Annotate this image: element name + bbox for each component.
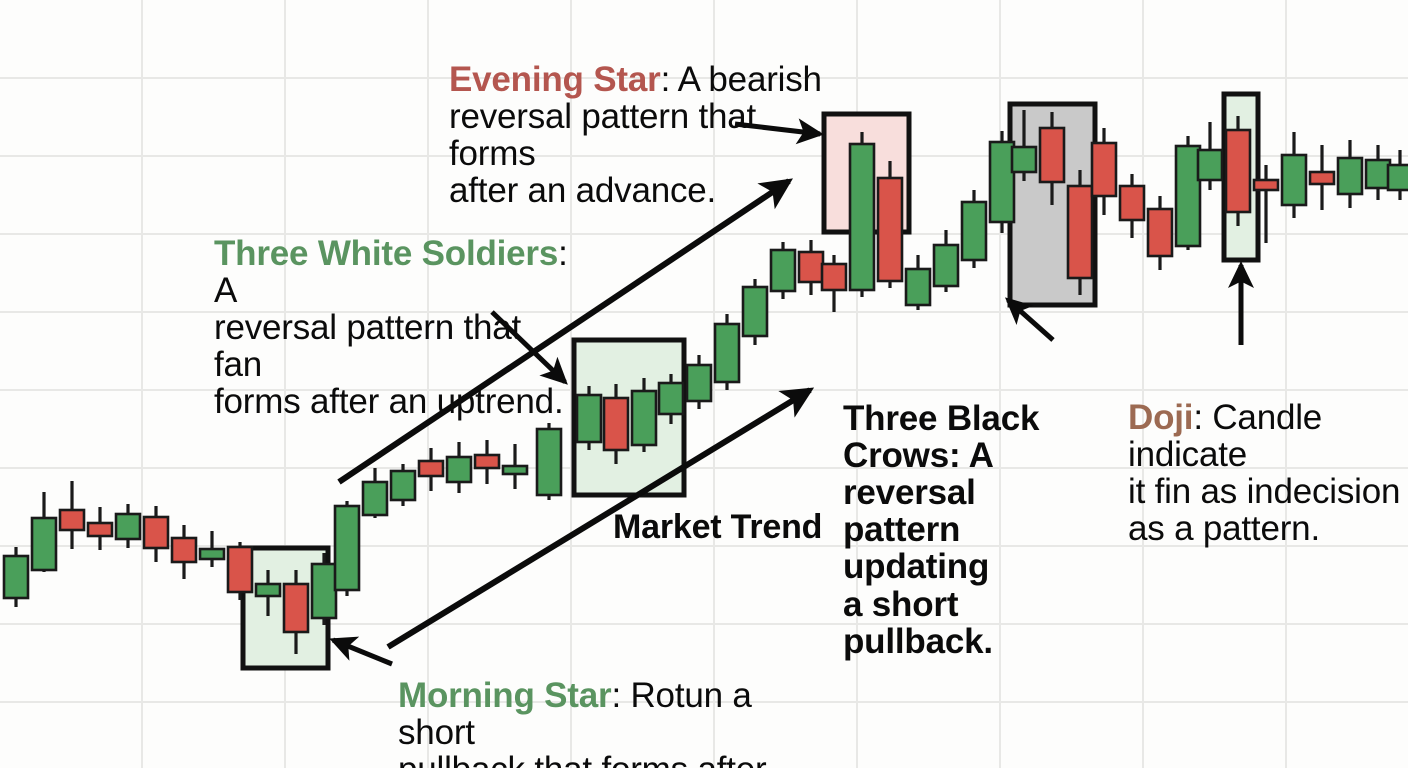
candlestick [144, 506, 168, 562]
candlestick [687, 355, 711, 409]
candle-body [284, 584, 308, 632]
market-trend-label: Market Trend [613, 508, 822, 547]
candlestick [1176, 136, 1200, 250]
candlestick [475, 440, 499, 484]
candle-body [1092, 143, 1116, 196]
candle-body [1226, 130, 1250, 212]
candle-body [335, 506, 359, 590]
candlestick [1068, 170, 1092, 295]
callout-morning-star: Morning Star: Rotun a short pullback tha… [398, 640, 798, 768]
candle-body [88, 523, 112, 536]
candlestick [1226, 116, 1250, 226]
candle-body [228, 547, 252, 592]
candle-body [799, 252, 823, 282]
candle-body [771, 250, 795, 291]
candle-body [659, 383, 683, 414]
candle-body [743, 287, 767, 336]
candle-body [32, 518, 56, 570]
callout-evening-star: Evening Star: A bearish reversal pattern… [449, 24, 849, 209]
candle-body [934, 245, 958, 286]
candle-body [715, 324, 739, 382]
candle-body [850, 144, 874, 290]
candle-body [632, 391, 656, 445]
candlestick [1120, 174, 1144, 238]
candlestick [537, 423, 561, 500]
callout-three-black-crows-body: Crows: A reversal pattern updating a sho… [843, 436, 993, 660]
candle-body [4, 556, 28, 598]
candlestick [1338, 140, 1362, 208]
callout-evening-star-lead: Evening Star [449, 60, 661, 99]
candlestick [1198, 122, 1222, 190]
candle-body [200, 549, 224, 559]
candlestick [88, 507, 112, 550]
candle-body [990, 142, 1014, 222]
candle-body [962, 202, 986, 260]
callout-doji-lead: Doji [1128, 398, 1193, 437]
callout-three-black-crows: Three Black Crows: A reversal pattern up… [843, 363, 1113, 660]
candlestick [363, 468, 387, 518]
candle-body [1040, 128, 1064, 182]
candle-body [1012, 147, 1036, 172]
candlestick [32, 492, 56, 572]
candle-body [1338, 158, 1362, 194]
candle-body [312, 564, 336, 618]
candle-body [172, 538, 196, 562]
candlestick [934, 230, 958, 292]
candle-body [878, 178, 902, 281]
callout-three-white-soldiers-lead: Three White Soldiers [214, 234, 558, 273]
candle-body [1068, 186, 1092, 278]
candlestick [1282, 132, 1306, 218]
candle-body [1310, 172, 1334, 184]
callout-three-black-crows-lead: Three Black [843, 399, 1039, 438]
candle-body [822, 264, 846, 290]
candlestick [228, 542, 252, 600]
candle-body [1176, 146, 1200, 246]
candle-body [447, 457, 471, 482]
candle-body [1366, 160, 1390, 188]
candlestick [990, 131, 1014, 233]
candlestick [503, 444, 527, 489]
candlestick [60, 481, 84, 549]
candle-body [906, 269, 930, 305]
candle-body [1254, 180, 1278, 190]
candlestick [419, 448, 443, 491]
candlestick [799, 240, 823, 295]
candlestick [743, 279, 767, 345]
candle-body [116, 514, 140, 539]
candlestick [962, 190, 986, 268]
candle-body [604, 398, 628, 450]
callout-three-white-soldiers: Three White Soldiers: A reversal pattern… [214, 198, 574, 421]
candlestick [335, 501, 359, 596]
candle-body [1120, 186, 1144, 220]
callout-doji: Doji: Candle indicate it fin as indecisi… [1128, 362, 1408, 547]
candlestick [200, 531, 224, 567]
candle-body [419, 461, 443, 476]
candlestick [1310, 145, 1334, 210]
candlestick [715, 314, 739, 390]
callout-morning-star-lead: Morning Star [398, 676, 611, 715]
candle-body [687, 365, 711, 401]
candlestick [878, 161, 902, 288]
candle-body [256, 584, 280, 596]
candle-body [537, 429, 561, 495]
candlestick-infographic: Evening Star: A bearish reversal pattern… [0, 0, 1408, 768]
candle-body [475, 455, 499, 468]
candlestick [906, 255, 930, 310]
candlestick [312, 553, 336, 625]
candle-body [503, 466, 527, 474]
candlestick [1148, 196, 1172, 270]
candle-body [577, 395, 601, 442]
candle-body [391, 471, 415, 500]
candlestick [577, 386, 601, 450]
candle-body [1388, 165, 1408, 190]
candlestick [172, 525, 196, 579]
candlestick [822, 255, 846, 312]
candlestick [4, 547, 28, 607]
candlestick [116, 504, 140, 548]
candlestick [771, 242, 795, 299]
candle-body [363, 482, 387, 515]
candle-body [1282, 155, 1306, 205]
candle-body [1148, 209, 1172, 256]
candlestick [1388, 150, 1408, 200]
candle-body [60, 510, 84, 530]
candlestick [850, 132, 874, 297]
candlestick [447, 442, 471, 493]
candle-body [1198, 150, 1222, 180]
candlestick [391, 464, 415, 506]
candlestick [1366, 145, 1390, 200]
candle-body [144, 517, 168, 548]
